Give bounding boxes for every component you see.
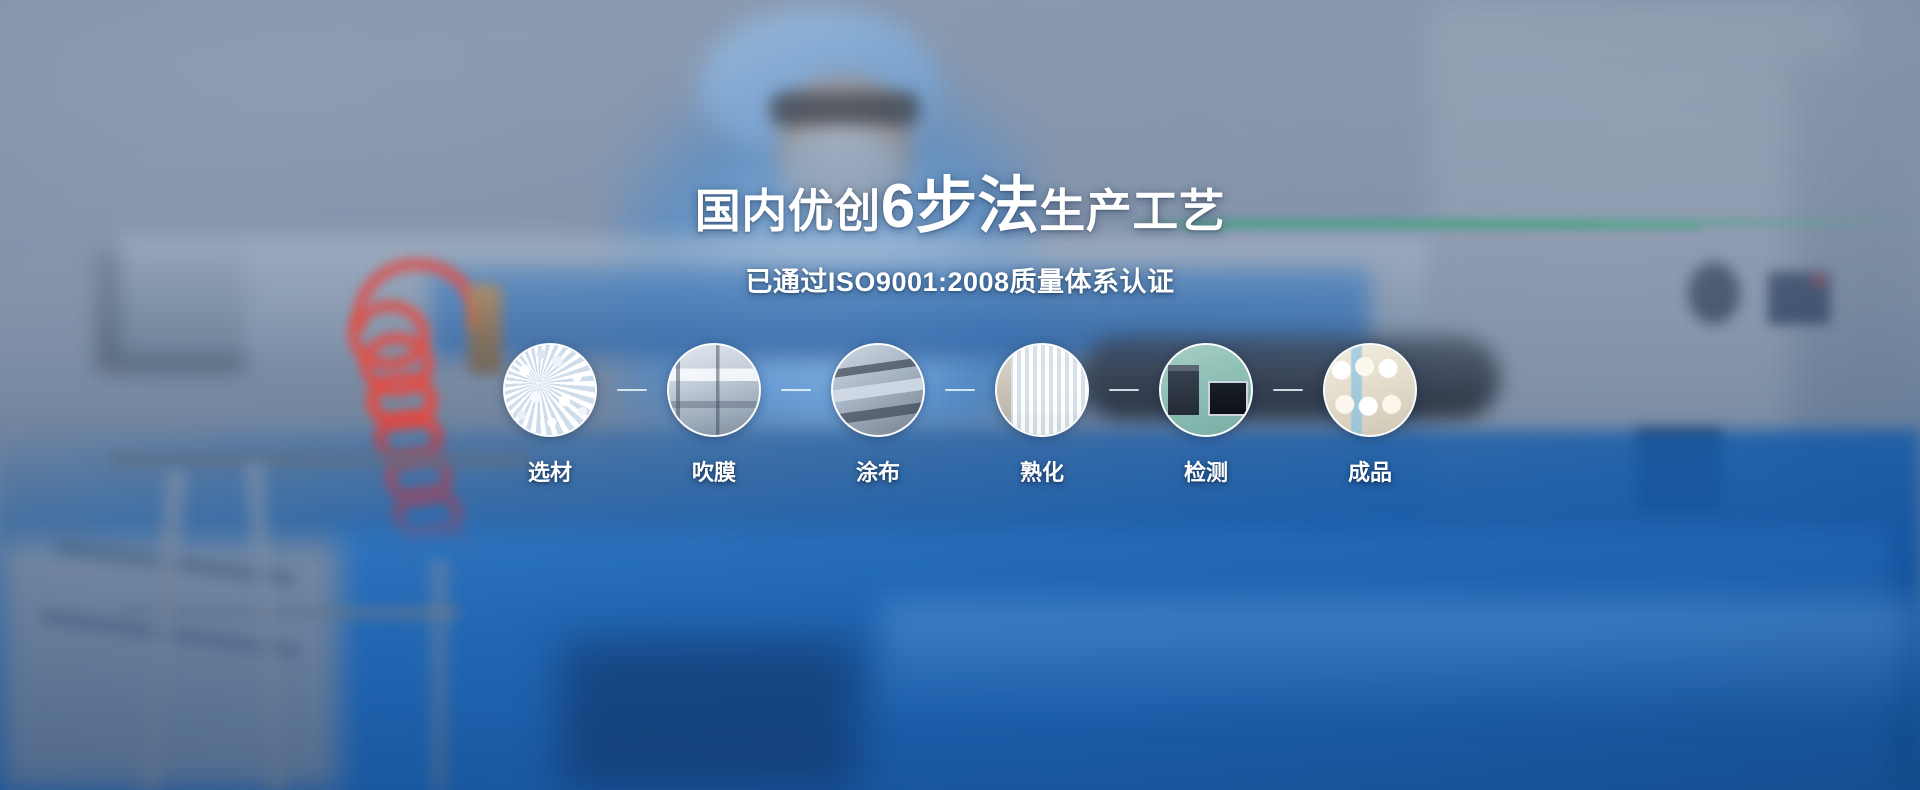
banner-subheadline: 已通过ISO9001:2008质量体系认证 <box>745 260 1174 299</box>
process-step-2[interactable]: 吹膜 <box>655 343 773 487</box>
process-step-5[interactable]: 检测 <box>1147 343 1265 487</box>
process-step-1[interactable]: 选材 <box>491 343 609 487</box>
coating-roller-icon <box>833 345 923 435</box>
process-step-4[interactable]: 熟化 <box>983 343 1101 487</box>
step-thumbnail[interactable] <box>1323 343 1417 437</box>
step-label: 涂布 <box>856 455 900 487</box>
step-thumbnail[interactable] <box>1159 343 1253 437</box>
resin-pellets-icon <box>505 345 595 435</box>
headline-part-after: 生产工艺 <box>1039 188 1225 234</box>
step-label: 检测 <box>1184 455 1228 487</box>
process-banner: 国内优创 6步法 生产工艺 已通过ISO9001:2008质量体系认证 选材 吹… <box>0 0 1920 790</box>
banner-content: 国内优创 6步法 生产工艺 已通过ISO9001:2008质量体系认证 选材 吹… <box>0 0 1920 790</box>
headline-part-before: 国内优创 <box>695 188 881 234</box>
process-step-6[interactable]: 成品 <box>1311 343 1429 487</box>
banner-headline: 国内优创 6步法 生产工艺 <box>695 176 1225 238</box>
process-step-list: 选材 吹膜 涂布 熟化 <box>491 343 1429 487</box>
step-label: 吹膜 <box>692 455 736 487</box>
step-connector <box>1101 343 1147 437</box>
process-step-3[interactable]: 涂布 <box>819 343 937 487</box>
step-connector <box>1265 343 1311 437</box>
film-blowing-machine-icon <box>669 345 759 435</box>
step-label: 熟化 <box>1020 455 1064 487</box>
step-thumbnail[interactable] <box>995 343 1089 437</box>
step-label: 成品 <box>1348 455 1392 487</box>
step-connector <box>937 343 983 437</box>
step-label: 选材 <box>528 455 572 487</box>
finished-film-rolls-icon <box>1325 345 1415 435</box>
step-thumbnail[interactable] <box>503 343 597 437</box>
step-thumbnail[interactable] <box>831 343 925 437</box>
step-thumbnail[interactable] <box>667 343 761 437</box>
step-connector <box>773 343 819 437</box>
headline-emphasis: 6步法 <box>881 176 1039 238</box>
qc-testing-equipment-icon <box>1161 345 1251 435</box>
curing-room-icon <box>997 345 1087 435</box>
step-connector <box>609 343 655 437</box>
